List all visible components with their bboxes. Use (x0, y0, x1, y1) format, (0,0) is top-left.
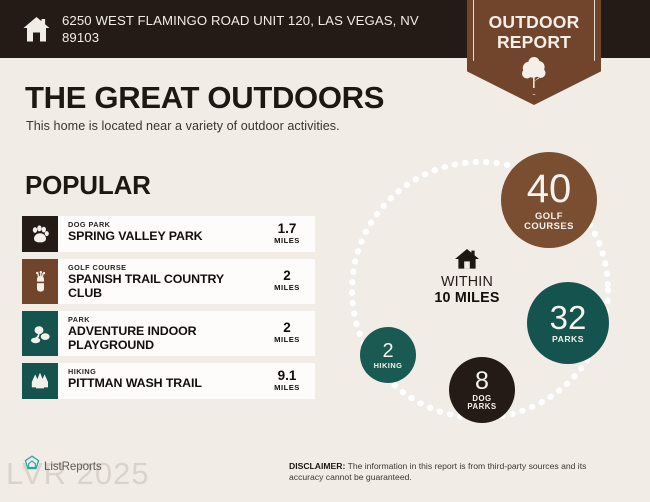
disclaimer-label: DISCLAIMER: (289, 461, 345, 471)
distance-unit: MILES (259, 383, 315, 392)
popular-list: DOG PARK SPRING VALLEY PARK 1.7 MILES (22, 216, 315, 406)
list-item-text: HIKING PITTMAN WASH TRAIL (58, 363, 259, 399)
list-item-category: DOG PARK (68, 220, 253, 229)
bubble-label: HIKING (374, 362, 403, 370)
list-item-name: SPANISH TRAIL COUNTRY CLUB (68, 273, 253, 300)
list-item-text: DOG PARK SPRING VALLEY PARK (58, 216, 259, 252)
list-item-text: PARK ADVENTURE INDOOR PLAYGROUND (58, 311, 259, 356)
list-item-name: PITTMAN WASH TRAIL (68, 377, 253, 391)
bubble-label: DOGPARKS (467, 395, 496, 411)
bubble-label: GOLFCOURSES (524, 211, 574, 231)
pine-trees-icon (29, 371, 51, 391)
list-item-distance: 2 MILES (259, 311, 315, 356)
list-item-icon-tile (22, 216, 58, 252)
distance-value: 1.7 (259, 222, 315, 236)
badge-line-2: REPORT (467, 32, 601, 53)
tree-icon (521, 57, 547, 89)
distance-value: 9.1 (259, 369, 315, 383)
list-item-category: GOLF COURSE (68, 263, 253, 272)
list-item-category: PARK (68, 315, 253, 324)
list-item-name: ADVENTURE INDOOR PLAYGROUND (68, 325, 253, 352)
amenities-bubble-chart: 40 GOLFCOURSES 32 PARKS 8 DOGPARKS 2 HIK… (330, 140, 650, 440)
badge-line-1: OUTDOOR (467, 12, 601, 33)
bubble-value: 40 (527, 169, 572, 209)
property-address: 6250 WEST FLAMINGO ROAD UNIT 120, LAS VE… (62, 13, 442, 46)
center-label-line-2: 10 MILES (412, 290, 522, 306)
disclaimer: DISCLAIMER: The information in this repo… (289, 461, 619, 484)
list-item-icon-tile (22, 363, 58, 399)
page-subtitle: This home is located near a variety of o… (26, 119, 340, 133)
bubble-value: 8 (475, 369, 489, 394)
bubble-dog-parks[interactable]: 8 DOGPARKS (449, 357, 515, 423)
list-item-icon-tile (22, 259, 58, 304)
list-item-name: SPRING VALLEY PARK (68, 230, 253, 244)
bubble-label: PARKS (552, 335, 584, 344)
list-item-distance: 2 MILES (259, 259, 315, 304)
list-item-distance: 1.7 MILES (259, 216, 315, 252)
paw-print-icon (30, 224, 50, 244)
listreports-pin-icon (24, 455, 40, 478)
chart-center-label: WITHIN 10 MILES (412, 248, 522, 306)
bubble-hiking[interactable]: 2 HIKING (360, 327, 416, 383)
list-item[interactable]: PARK ADVENTURE INDOOR PLAYGROUND 2 MILES (22, 311, 315, 356)
list-item[interactable]: HIKING PITTMAN WASH TRAIL 9.1 MILES (22, 363, 315, 399)
list-item-category: HIKING (68, 367, 253, 376)
bubble-parks[interactable]: 32 PARKS (527, 282, 609, 364)
distance-value: 2 (259, 320, 315, 335)
distance-value: 2 (259, 268, 315, 283)
list-item-distance: 9.1 MILES (259, 363, 315, 399)
distance-unit: MILES (259, 236, 315, 245)
distance-unit: MILES (259, 335, 315, 344)
list-item-icon-tile (22, 311, 58, 356)
bubble-value: 32 (550, 301, 587, 334)
outdoor-report-page: 6250 WEST FLAMINGO ROAD UNIT 120, LAS VE… (0, 0, 650, 502)
section-title-popular: POPULAR (25, 170, 151, 201)
bubble-golf-courses[interactable]: 40 GOLFCOURSES (501, 152, 597, 248)
home-icon (22, 16, 51, 43)
golf-bag-icon (31, 271, 50, 293)
distance-unit: MILES (259, 283, 315, 292)
list-item[interactable]: DOG PARK SPRING VALLEY PARK 1.7 MILES (22, 216, 315, 252)
list-item-text: GOLF COURSE SPANISH TRAIL COUNTRY CLUB (58, 259, 259, 304)
page-title: THE GREAT OUTDOORS (25, 80, 384, 116)
listreports-logo-text: ListReports (44, 460, 102, 473)
bubble-value: 2 (382, 341, 393, 361)
listreports-logo[interactable]: ListReports (24, 455, 102, 478)
park-trees-icon (29, 324, 51, 344)
center-label-line-1: WITHIN (412, 274, 522, 290)
list-item[interactable]: GOLF COURSE SPANISH TRAIL COUNTRY CLUB 2… (22, 259, 315, 304)
home-icon (412, 248, 522, 270)
